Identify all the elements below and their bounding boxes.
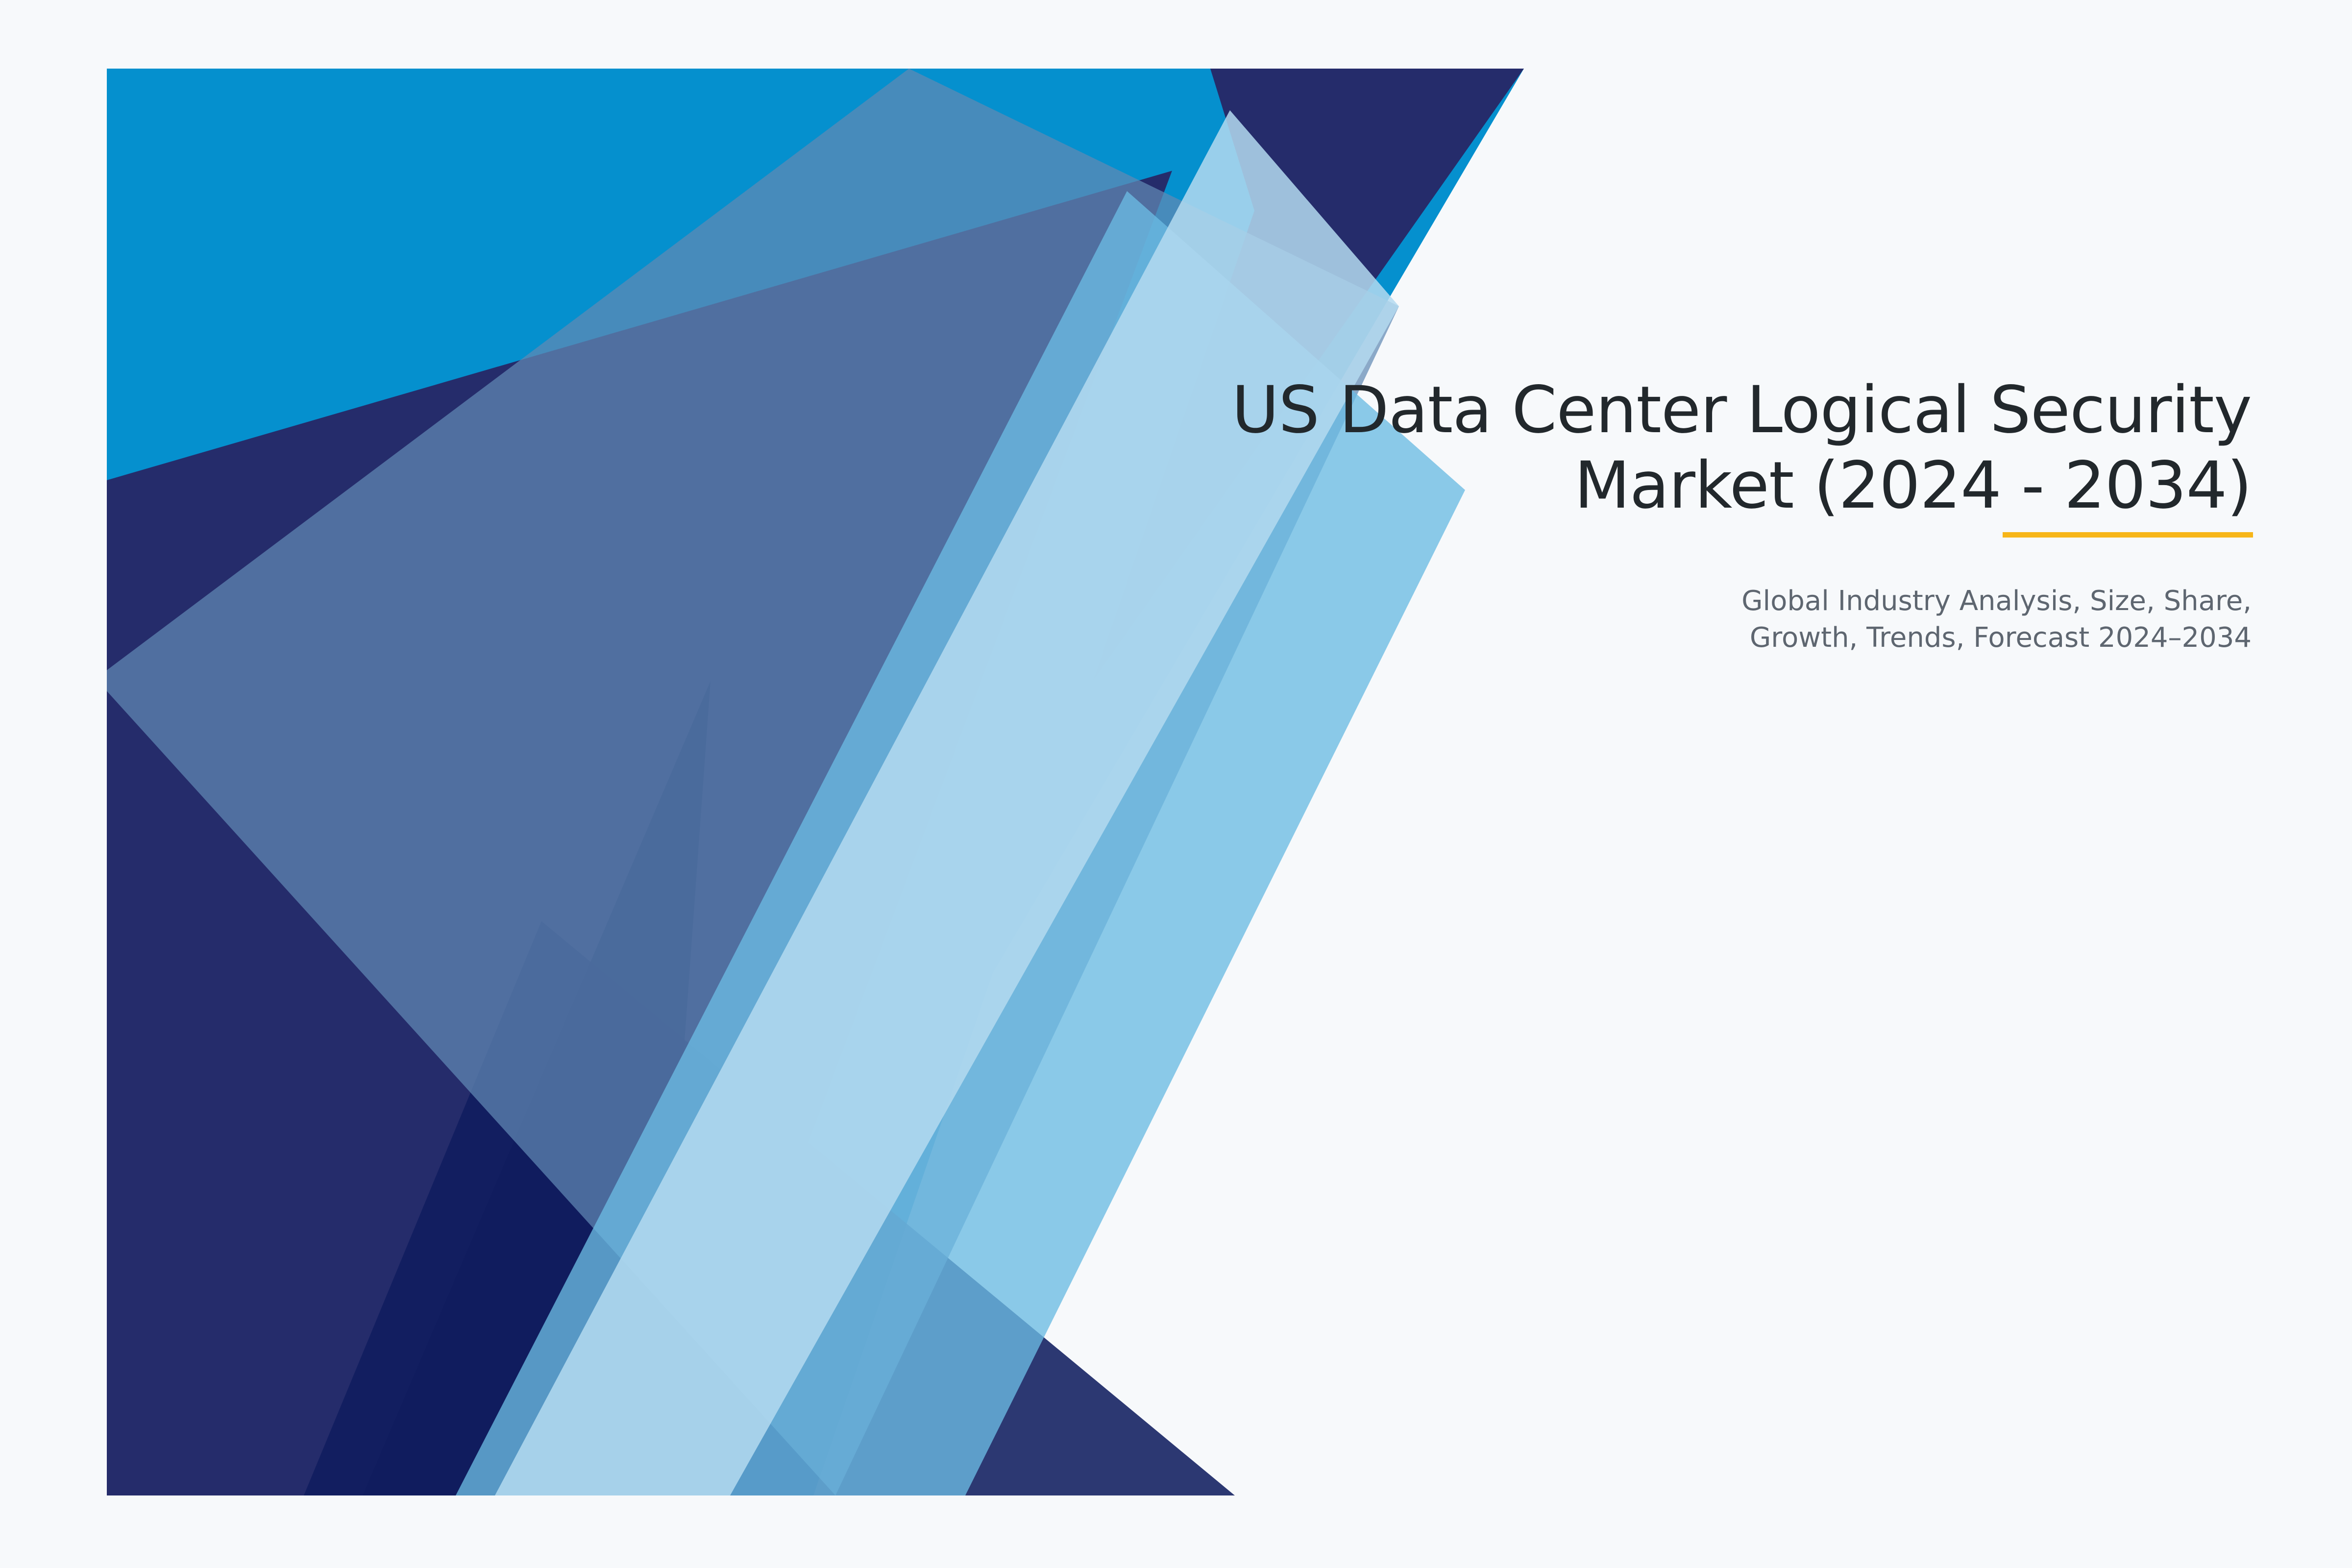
- page-title: US Data Center Logical SecurityMarket (2…: [1029, 372, 2252, 524]
- page-subtitle-line-2: Growth, Trends, Forecast 2024–2034: [1750, 622, 2252, 654]
- page-title-line-2: Market (2024 - 2034): [1574, 448, 2252, 523]
- cover-text-block: US Data Center Logical SecurityMarket (2…: [1029, 372, 2252, 656]
- page-title-line-1: US Data Center Logical Security: [1232, 372, 2252, 448]
- page-subtitle: Global Industry Analysis, Size, Share,Gr…: [1029, 524, 2252, 656]
- abstract-geometric-cover-graphic: [0, 0, 2352, 1568]
- page-subtitle-line-1: Global Industry Analysis, Size, Share,: [1741, 585, 2252, 617]
- report-cover-page: US Data Center Logical SecurityMarket (2…: [0, 0, 2352, 1568]
- title-accent-underline: [2003, 532, 2253, 538]
